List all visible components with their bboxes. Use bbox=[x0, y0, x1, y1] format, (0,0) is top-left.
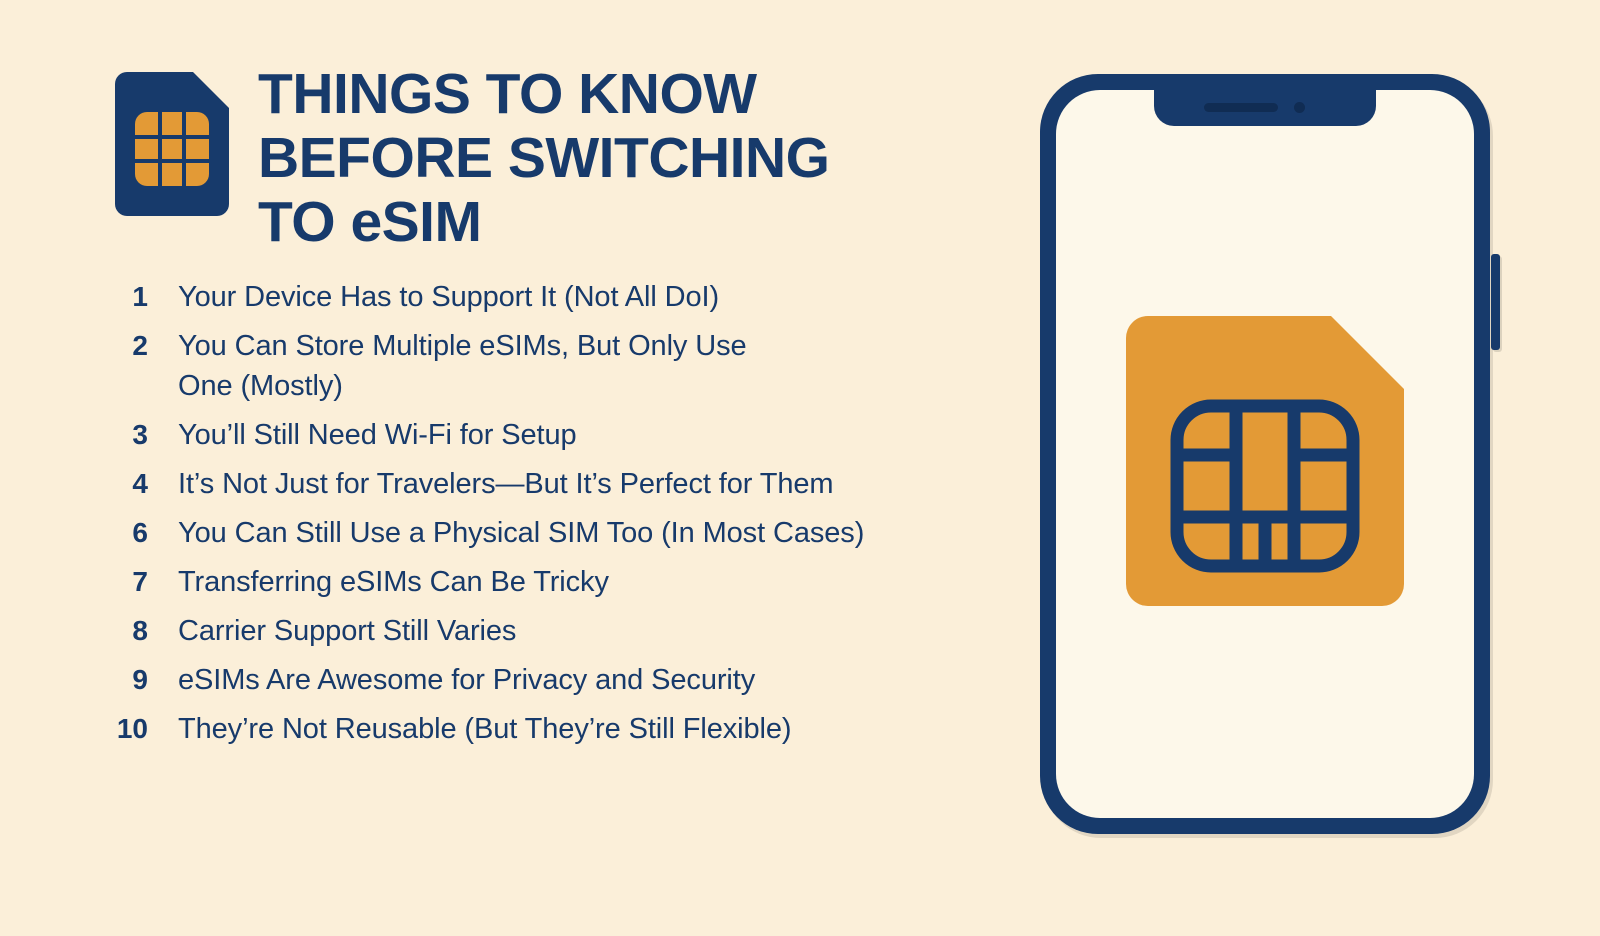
list-item: 7 Transferring eSIMs Can Be Tricky bbox=[0, 562, 1010, 602]
list-item-number: 10 bbox=[0, 709, 148, 749]
smartphone-illustration bbox=[1016, 68, 1516, 838]
list-item-number: 4 bbox=[0, 464, 148, 504]
list-item-number: 6 bbox=[0, 513, 148, 553]
list-item-number: 2 bbox=[0, 326, 148, 366]
page-title: THINGS TO KNOW BEFORE SWITCHING TO eSIM bbox=[258, 62, 998, 254]
content-column: THINGS TO KNOW BEFORE SWITCHING TO eSIM … bbox=[0, 0, 1010, 936]
list-item-number: 9 bbox=[0, 660, 148, 700]
list-item-text: It’s Not Just for Travelers—But It’s Per… bbox=[178, 464, 833, 504]
title-line-2: BEFORE SWITCHING bbox=[258, 126, 998, 190]
front-camera-icon bbox=[1294, 102, 1305, 113]
esim-infographic: THINGS TO KNOW BEFORE SWITCHING TO eSIM … bbox=[0, 0, 1600, 936]
list-item-text: They’re Not Reusable (But They’re Still … bbox=[178, 709, 791, 749]
list-item: 10 They’re Not Reusable (But They’re Sti… bbox=[0, 709, 1010, 749]
list-item-number: 8 bbox=[0, 611, 148, 651]
list-item-text: You Can Store Multiple eSIMs, But Only U… bbox=[178, 326, 798, 406]
title-line-3: TO eSIM bbox=[258, 190, 998, 254]
list-item: 6 You Can Still Use a Physical SIM Too (… bbox=[0, 513, 1010, 553]
list-item-text: Your Device Has to Support It (Not All D… bbox=[178, 277, 719, 317]
tips-list: 1 Your Device Has to Support It (Not All… bbox=[0, 277, 1010, 758]
list-item: 4 It’s Not Just for Travelers—But It’s P… bbox=[0, 464, 1010, 504]
sim-chip-icon bbox=[1126, 316, 1404, 606]
list-item: 3 You’ll Still Need Wi-Fi for Setup bbox=[0, 415, 1010, 455]
list-item-text: You’ll Still Need Wi-Fi for Setup bbox=[178, 415, 577, 455]
list-item: 2 You Can Store Multiple eSIMs, But Only… bbox=[0, 326, 1010, 406]
list-item-text: Transferring eSIMs Can Be Tricky bbox=[178, 562, 609, 602]
speaker-slot-icon bbox=[1204, 103, 1278, 112]
sim-card-icon bbox=[115, 72, 229, 216]
power-button bbox=[1491, 254, 1500, 350]
list-item-number: 1 bbox=[0, 277, 148, 317]
title-line-1: THINGS TO KNOW bbox=[258, 62, 998, 126]
phone-body bbox=[1040, 74, 1490, 834]
phone-screen bbox=[1056, 90, 1474, 818]
list-item-number: 7 bbox=[0, 562, 148, 602]
list-item-number: 3 bbox=[0, 415, 148, 455]
phone-notch bbox=[1154, 90, 1376, 126]
list-item: 8 Carrier Support Still Varies bbox=[0, 611, 1010, 651]
list-item-text: You Can Still Use a Physical SIM Too (In… bbox=[178, 513, 1010, 553]
list-item: 1 Your Device Has to Support It (Not All… bbox=[0, 277, 1010, 317]
list-item-text: Carrier Support Still Varies bbox=[178, 611, 516, 651]
list-item-text: eSIMs Are Awesome for Privacy and Securi… bbox=[178, 660, 755, 700]
list-item: 9 eSIMs Are Awesome for Privacy and Secu… bbox=[0, 660, 1010, 700]
